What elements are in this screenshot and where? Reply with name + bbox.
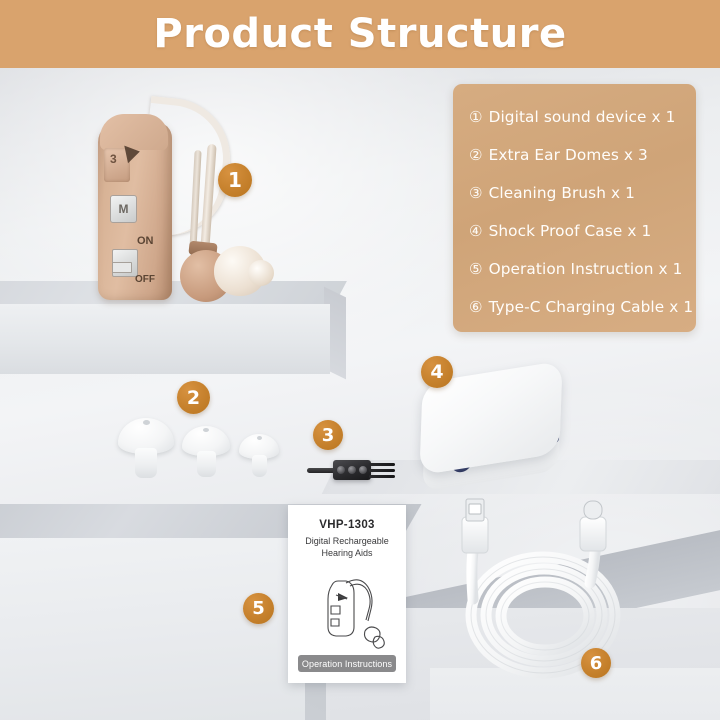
callout-badge-6[interactable]: 6	[581, 648, 611, 678]
ear-dome-small-hole	[257, 436, 262, 440]
legend-label-4: Shock Proof Case x 1	[489, 222, 652, 240]
power-switch-knob	[112, 262, 132, 273]
ear-dome-medium-stem	[197, 451, 216, 477]
callout-badge-3[interactable]: 3	[313, 420, 343, 450]
brush-bristle-1	[369, 463, 395, 466]
booklet-model-number: VHP-1303	[288, 519, 406, 531]
type-c-charging-cable	[440, 495, 650, 700]
booklet-subtitle-line-2: Hearing Aids	[288, 547, 406, 559]
callout-badge-2[interactable]: 2	[177, 381, 210, 414]
instruction-booklet: VHP-1303 Digital Rechargeable Hearing Ai…	[288, 505, 406, 683]
brush-ring-1	[337, 466, 345, 474]
shock-proof-case	[409, 372, 574, 496]
legend-item-3: ③ Cleaning Brush x 1	[453, 174, 696, 212]
brush-bristle-3	[369, 475, 395, 478]
ear-dome-large-stem	[135, 448, 157, 478]
brush-bristle-2	[369, 469, 395, 472]
contents-legend-panel: ① Digital sound device x 1 ② Extra Ear D…	[453, 84, 696, 332]
legend-marker-4: ④	[469, 222, 483, 240]
brush-ring-2	[348, 466, 356, 474]
legend-item-2: ② Extra Ear Domes x 3	[453, 136, 696, 174]
legend-item-4: ④ Shock Proof Case x 1	[453, 212, 696, 250]
legend-label-6: Type-C Charging Cable x 1	[489, 298, 694, 316]
ear-dome-medium-hole	[203, 428, 209, 432]
legend-marker-5: ⑤	[469, 260, 483, 278]
platform-mid-block-front	[0, 538, 305, 720]
power-on-label: ON	[137, 235, 154, 247]
legend-marker-2: ②	[469, 146, 483, 164]
page-title: Product Structure	[153, 11, 566, 57]
product-structure-poster: Product Structure ① Digital sound device…	[0, 0, 720, 720]
booklet-operation-instructions-label: Operation Instructions	[298, 655, 396, 672]
header-banner: Product Structure	[0, 0, 720, 68]
ear-domes-group	[118, 414, 298, 484]
legend-label-5: Operation Instruction x 1	[489, 260, 683, 278]
hearing-aid-device: 3 M ON OFF	[84, 92, 274, 312]
callout-badge-5[interactable]: 5	[243, 593, 274, 624]
legend-label-1: Digital sound device x 1	[489, 108, 676, 126]
legend-marker-1: ①	[469, 108, 483, 126]
brush-ring-3	[359, 466, 367, 474]
ear-dome-large-hole	[143, 420, 150, 425]
legend-marker-6: ⑥	[469, 298, 483, 316]
legend-label-3: Cleaning Brush x 1	[489, 184, 635, 202]
callout-badge-4[interactable]: 4	[421, 356, 453, 388]
callout-badge-1[interactable]: 1	[218, 163, 252, 197]
booklet-subtitle-line-1: Digital Rechargeable	[288, 535, 406, 547]
legend-marker-3: ③	[469, 184, 483, 202]
power-off-label: OFF	[135, 274, 155, 285]
platform-upper-step-front	[0, 304, 330, 374]
ear-dome-tip	[248, 260, 274, 286]
volume-level-label: 3	[110, 152, 117, 166]
ear-dome-small-stem	[252, 455, 267, 477]
legend-item-5: ⑤ Operation Instruction x 1	[453, 250, 696, 288]
mode-button: M	[110, 195, 137, 223]
booklet-subtitle: Digital Rechargeable Hearing Aids	[288, 535, 406, 559]
legend-item-1: ① Digital sound device x 1	[453, 98, 696, 136]
legend-label-2: Extra Ear Domes x 3	[489, 146, 648, 164]
booklet-device-illustration-icon	[310, 565, 390, 651]
legend-item-6: ⑥ Type-C Charging Cable x 1	[453, 288, 696, 326]
cleaning-brush	[307, 458, 397, 486]
